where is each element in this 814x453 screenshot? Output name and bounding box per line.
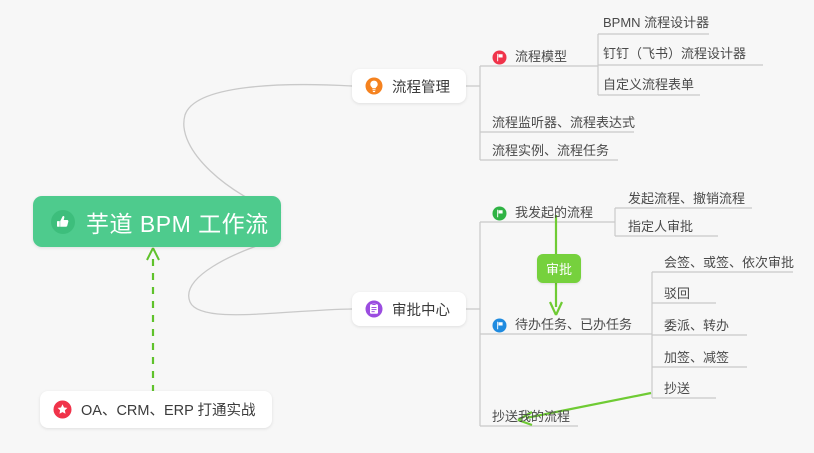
- branch-node-approval-center[interactable]: 审批中心: [352, 292, 466, 326]
- star-icon: [53, 400, 72, 419]
- node-label-assignee-approval: 指定人审批: [628, 218, 693, 236]
- flag-icon: [492, 318, 507, 333]
- root-label: 芋道 BPM 工作流: [86, 205, 269, 239]
- node-label-custom-process-form: 自定义流程表单: [603, 76, 694, 94]
- thumbs-up-icon: [50, 209, 76, 235]
- branch-node-process-management[interactable]: 流程管理: [352, 69, 466, 103]
- node-label-process-model: 流程模型: [515, 48, 567, 66]
- node-reject[interactable]: 驳回: [664, 285, 690, 303]
- edge-root-to-approval-center: [189, 238, 352, 315]
- root-node[interactable]: 芋道 BPM 工作流: [33, 196, 281, 247]
- node-label-reject: 驳回: [664, 285, 690, 303]
- node-bpmn-designer[interactable]: BPMN 流程设计器: [603, 14, 709, 32]
- node-custom-process-form[interactable]: 自定义流程表单: [603, 76, 694, 94]
- node-assignee-approval[interactable]: 指定人审批: [628, 218, 693, 236]
- arrow-integration-to-root: [147, 248, 159, 392]
- node-label-countersign: 会签、或签、依次审批: [664, 254, 794, 272]
- clipboard-icon: [365, 300, 383, 318]
- node-cc[interactable]: 抄送: [664, 380, 690, 398]
- node-label-my-initiated: 我发起的流程: [515, 204, 593, 222]
- node-label-cc: 抄送: [664, 380, 690, 398]
- node-label-todo-done-tasks: 待办任务、已办任务: [515, 316, 632, 334]
- node-label-start-cancel-process: 发起流程、撤销流程: [628, 190, 745, 208]
- lightbulb-icon: [365, 77, 383, 95]
- flag-icon: [492, 206, 507, 221]
- flag-icon: [492, 50, 507, 65]
- node-label-bpmn-designer: BPMN 流程设计器: [603, 14, 709, 32]
- edge-root-to-process-management: [184, 85, 352, 213]
- node-delegate-transfer[interactable]: 委派、转办: [664, 317, 729, 335]
- mindmap-canvas: 芋道 BPM 工作流 流程管理 流程模型 流程监听器、流程表达式 流程实例、流程…: [0, 0, 814, 453]
- branch-label-process-management: 流程管理: [392, 76, 450, 97]
- integration-note-label: OA、CRM、ERP 打通实战: [81, 399, 256, 420]
- node-label-dingtalk-feishu-designer: 钉钉（飞书）流程设计器: [603, 45, 746, 63]
- node-label-listener-expression: 流程监听器、流程表达式: [492, 114, 635, 132]
- node-label-instance-task: 流程实例、流程任务: [492, 142, 609, 160]
- node-label-cc-to-me: 抄送我的流程: [492, 408, 570, 426]
- node-dingtalk-feishu-designer[interactable]: 钉钉（飞书）流程设计器: [603, 45, 746, 63]
- branch-label-approval-center: 审批中心: [392, 299, 450, 320]
- node-instance-task[interactable]: 流程实例、流程任务: [492, 142, 609, 160]
- node-countersign[interactable]: 会签、或签、依次审批: [664, 254, 794, 272]
- node-start-cancel-process[interactable]: 发起流程、撤销流程: [628, 190, 745, 208]
- approval-pill-label: 审批: [546, 262, 572, 277]
- node-my-initiated[interactable]: 我发起的流程: [492, 204, 593, 222]
- node-todo-done-tasks[interactable]: 待办任务、已办任务: [492, 316, 632, 334]
- node-label-add-remove-sign: 加签、减签: [664, 349, 729, 367]
- node-add-remove-sign[interactable]: 加签、减签: [664, 349, 729, 367]
- node-listener-expression[interactable]: 流程监听器、流程表达式: [492, 114, 635, 132]
- integration-note-node[interactable]: OA、CRM、ERP 打通实战: [40, 391, 272, 428]
- node-process-model[interactable]: 流程模型: [492, 48, 567, 66]
- node-cc-to-me[interactable]: 抄送我的流程: [492, 408, 570, 426]
- approval-pill[interactable]: 审批: [537, 254, 581, 283]
- node-label-delegate-transfer: 委派、转办: [664, 317, 729, 335]
